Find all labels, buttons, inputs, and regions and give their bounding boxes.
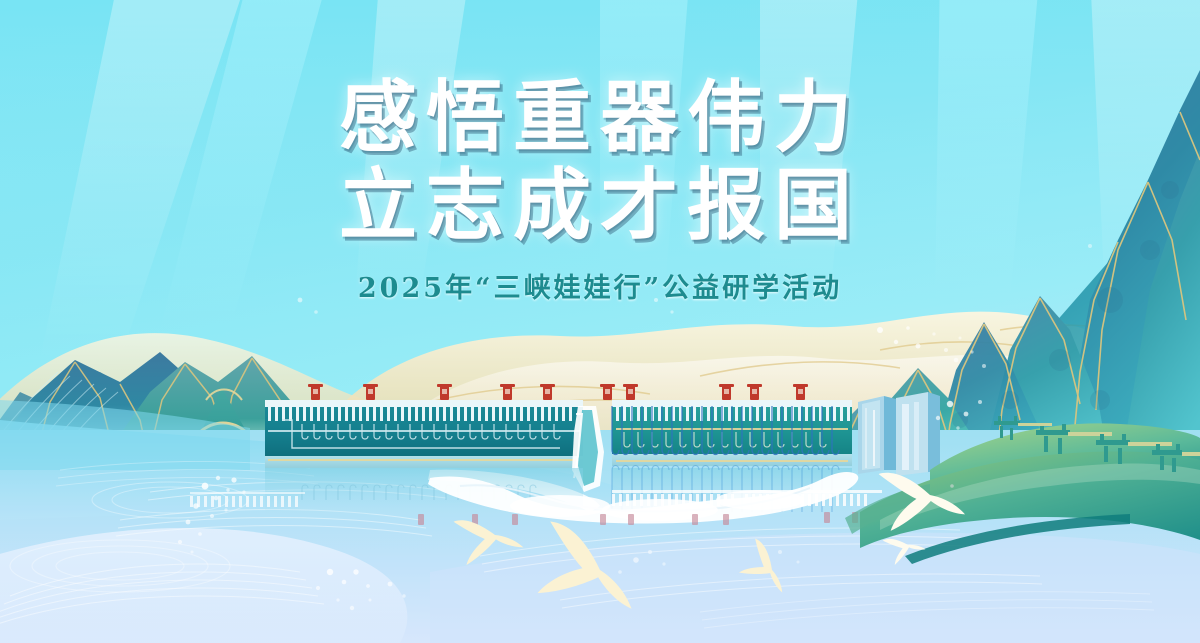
bubble-dots bbox=[178, 244, 1092, 610]
flying-birds bbox=[0, 0, 1200, 643]
banner-root: 感悟重器伟力 立志成才报国 2025年“三峡娃娃行”公益研学活动 bbox=[0, 0, 1200, 643]
